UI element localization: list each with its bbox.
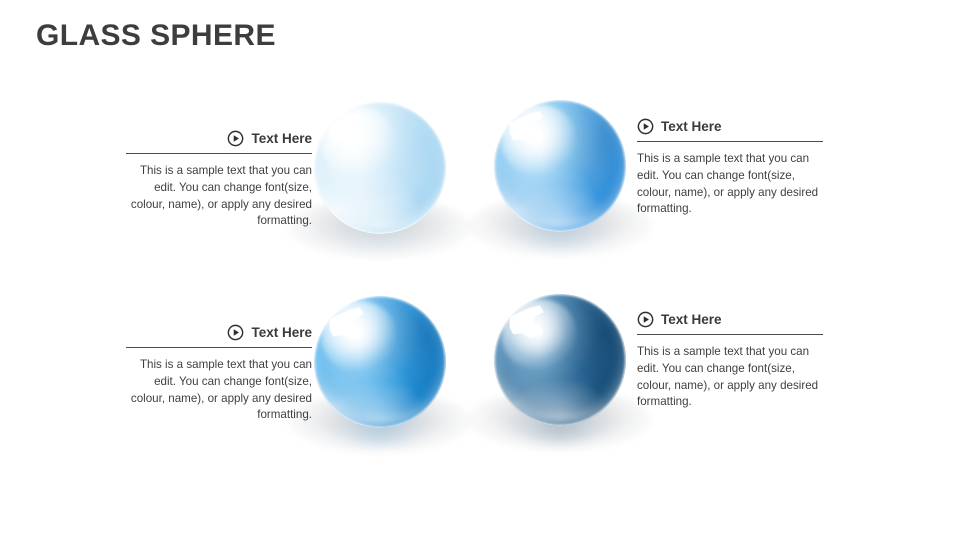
block-title: Text Here xyxy=(661,118,722,135)
text-block-bottom-right: Text Here This is a sample text that you… xyxy=(637,309,823,411)
block-title: Text Here xyxy=(661,311,722,328)
sphere-ball xyxy=(494,100,626,232)
sphere-ball xyxy=(314,296,446,428)
block-body-text: This is a sample text that you can edit.… xyxy=(126,357,312,424)
play-circle-icon[interactable] xyxy=(227,324,244,341)
sphere-3[interactable] xyxy=(314,296,446,428)
divider-rule xyxy=(637,141,823,142)
block-heading: Text Here xyxy=(126,322,312,342)
block-heading: Text Here xyxy=(637,309,823,329)
divider-rule xyxy=(637,334,823,335)
play-circle-icon[interactable] xyxy=(637,118,654,135)
play-circle-icon[interactable] xyxy=(227,130,244,147)
divider-rule xyxy=(126,153,312,154)
block-body-text: This is a sample text that you can edit.… xyxy=(126,163,312,230)
text-block-bottom-left: Text Here This is a sample text that you… xyxy=(126,322,312,424)
text-block-top-left: Text Here This is a sample text that you… xyxy=(126,128,312,230)
sphere-ball xyxy=(494,294,626,426)
page-title: GLASS SPHERE xyxy=(36,16,276,56)
sphere-4[interactable] xyxy=(494,294,626,426)
slide-canvas: GLASS SPHERE xyxy=(0,0,960,540)
block-body-text: This is a sample text that you can edit.… xyxy=(637,344,823,411)
sphere-1[interactable] xyxy=(314,102,446,234)
block-title: Text Here xyxy=(251,130,312,147)
sphere-ball xyxy=(314,102,446,234)
block-heading: Text Here xyxy=(637,116,823,136)
block-body-text: This is a sample text that you can edit.… xyxy=(637,151,823,218)
block-title: Text Here xyxy=(251,324,312,341)
text-block-top-right: Text Here This is a sample text that you… xyxy=(637,116,823,218)
block-heading: Text Here xyxy=(126,128,312,148)
sphere-2[interactable] xyxy=(494,100,626,232)
divider-rule xyxy=(126,347,312,348)
play-circle-icon[interactable] xyxy=(637,311,654,328)
